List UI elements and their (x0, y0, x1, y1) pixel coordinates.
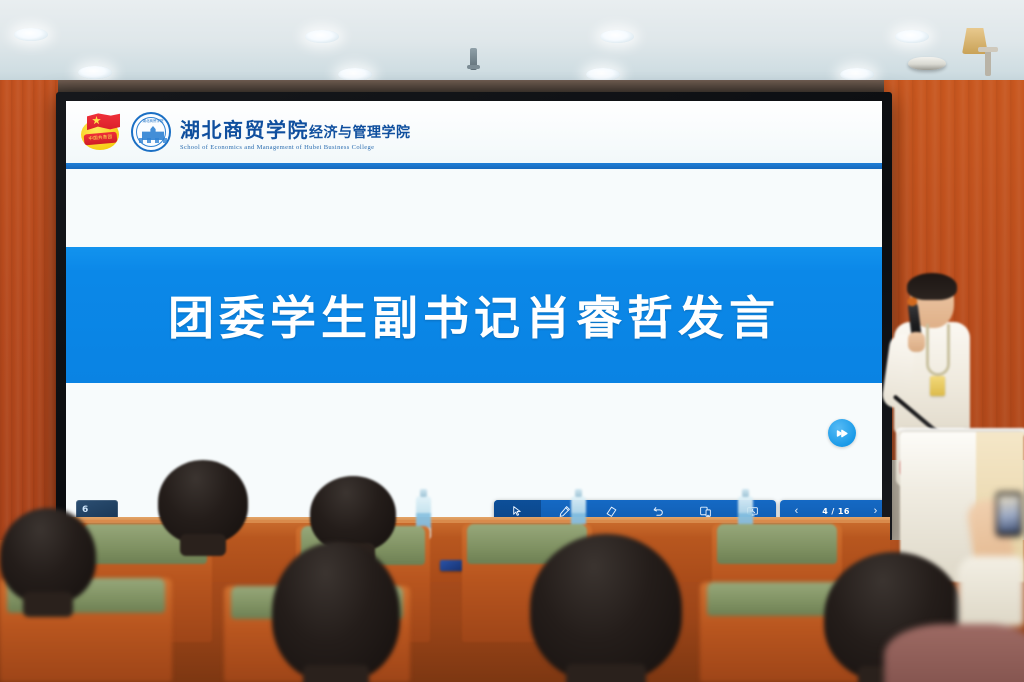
org-name-en: School of Economics and Management of Hu… (180, 144, 411, 151)
downlight-icon (14, 28, 48, 41)
university-seal-icon: 湖北商贸学院 (131, 112, 171, 152)
downlight-icon (600, 30, 634, 43)
photographer-shoulder (884, 624, 1024, 682)
phone-on-desk (440, 560, 464, 571)
slide-header: 中国共青团 湖北商贸学院 湖北商贸学院经济与管理学院 School of Eco… (66, 101, 882, 163)
slide-title-band: 团委学生副书记肖睿哲发言 (66, 247, 882, 383)
badge (930, 376, 945, 396)
slide-title: 团委学生副书记肖睿哲发言 (168, 282, 780, 348)
downlight-icon (305, 30, 339, 43)
audience-head (0, 508, 96, 604)
audience-photographer (904, 492, 1024, 682)
org-name-sub: 经济与管理学院 (309, 125, 411, 141)
header-text-block: 湖北商贸学院经济与管理学院 School of Economics and Ma… (180, 114, 411, 151)
ceiling (0, 0, 1024, 92)
audience-head (272, 542, 400, 682)
phone-camera-icon (996, 492, 1022, 536)
presenter-hand (908, 332, 925, 352)
org-name-cn: 湖北商贸学院经济与管理学院 (180, 114, 411, 143)
sprinkler-icon (470, 48, 477, 70)
downlight-icon (78, 66, 112, 79)
vent-stem-icon (985, 50, 991, 76)
audience-head (310, 476, 396, 552)
lanyard (926, 324, 950, 376)
smoke-detector-icon (908, 57, 946, 70)
presenter-hair (907, 273, 957, 300)
seal-arc-text: 湖北商贸学院 (139, 118, 167, 125)
downlight-icon (895, 30, 929, 43)
org-name-main: 湖北商贸学院 (180, 118, 309, 142)
audience-head (530, 534, 682, 682)
photographer-sleeve (958, 556, 1024, 626)
lecture-hall-scene: 中国共青团 湖北商贸学院 湖北商贸学院经济与管理学院 School of Eco… (0, 0, 1024, 682)
audience-head (158, 460, 248, 544)
youth-league-emblem-icon: 中国共青团 (80, 112, 122, 152)
play-media-icon[interactable] (828, 419, 856, 447)
slide-upper-space (66, 169, 882, 247)
